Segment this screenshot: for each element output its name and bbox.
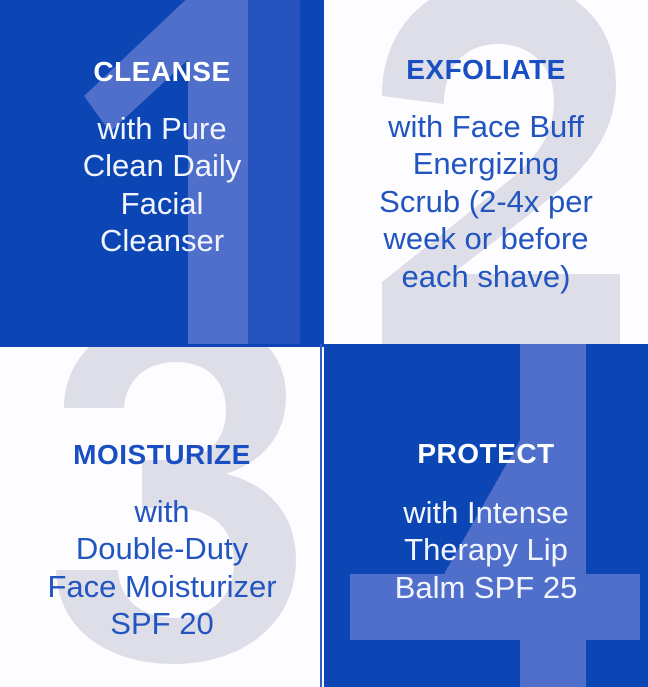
step-body-protect: with Intense Therapy Lip Balm SPF 25 — [324, 470, 648, 607]
step-body-cleanse: with Pure Clean Daily Facial Cleanser — [0, 88, 324, 260]
step-content-protect: PROTECT with Intense Therapy Lip Balm SP… — [324, 344, 648, 606]
step-heading-exfoliate: EXFOLIATE — [324, 55, 648, 86]
step-body-exfoliate: with Face Buff Energizing Scrub (2-4x pe… — [324, 86, 648, 296]
step-card-cleanse: CLEANSE with Pure Clean Daily Facial Cle… — [0, 0, 324, 344]
step-card-exfoliate: EXFOLIATE with Face Buff Energizing Scru… — [324, 0, 648, 344]
step-content-exfoliate: EXFOLIATE with Face Buff Energizing Scru… — [324, 0, 648, 295]
skincare-routine-infographic: CLEANSE with Pure Clean Daily Facial Cle… — [0, 0, 648, 687]
step-content-cleanse: CLEANSE with Pure Clean Daily Facial Cle… — [0, 0, 324, 260]
step-content-moisturize: MOISTURIZE with Double-Duty Face Moistur… — [0, 344, 324, 643]
step-card-moisturize: MOISTURIZE with Double-Duty Face Moistur… — [0, 344, 324, 687]
step-heading-cleanse: CLEANSE — [0, 57, 324, 88]
step-body-moisturize: with Double-Duty Face Moisturizer SPF 20 — [0, 471, 324, 643]
step-heading-protect: PROTECT — [324, 439, 648, 470]
step-heading-moisturize: MOISTURIZE — [0, 440, 324, 471]
step-card-protect: PROTECT with Intense Therapy Lip Balm SP… — [324, 344, 648, 687]
